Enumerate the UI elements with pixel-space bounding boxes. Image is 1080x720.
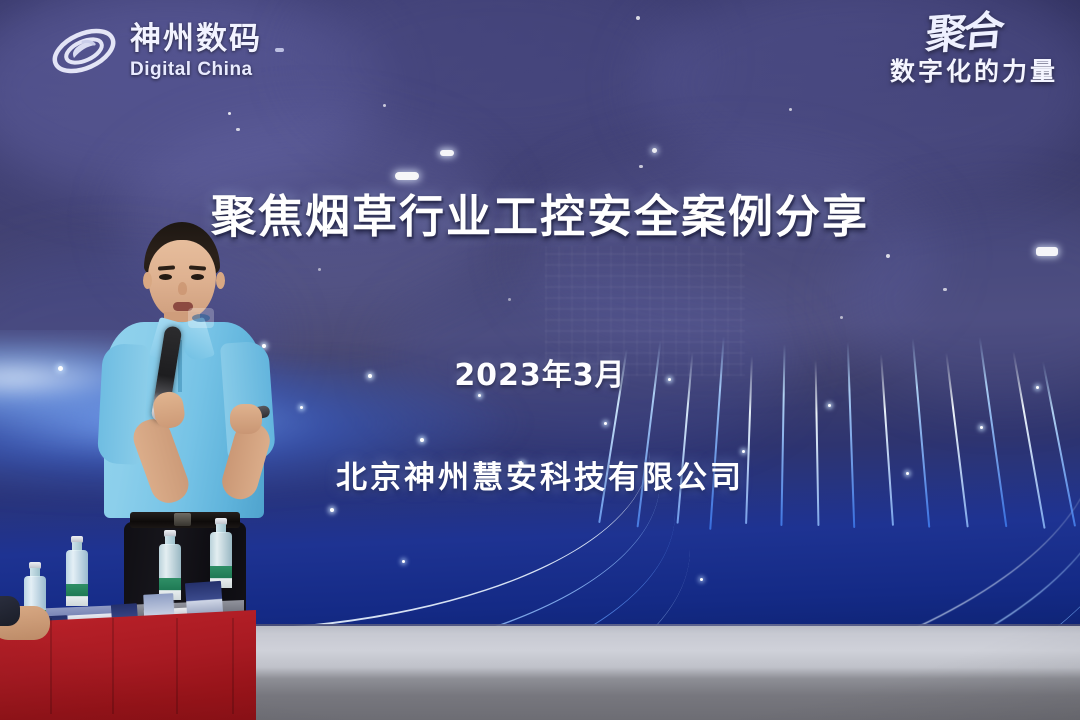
speaker-ear-right <box>216 272 225 289</box>
brand-name-cn: 神州数码 <box>130 24 262 55</box>
cloth-fold <box>112 618 114 714</box>
cloth-fold <box>232 618 234 714</box>
shirt-chest-logo-icon <box>188 308 214 328</box>
bottle-body <box>66 550 88 602</box>
slogan-block: 聚合 数字化的力量 <box>890 16 1058 88</box>
speaker-hand-right <box>230 404 262 434</box>
digital-china-spiral-logo-icon <box>48 18 120 84</box>
bottle-label <box>66 584 88 606</box>
name-card <box>185 581 223 615</box>
attendee-sleeve <box>0 596 20 626</box>
cloth-fold <box>176 618 178 714</box>
slogan-subtitle: 数字化的力量 <box>890 52 1058 88</box>
brand-name-en: Digital China <box>130 60 262 79</box>
brand-accent-dash <box>275 48 284 52</box>
speaker-nose <box>178 282 187 295</box>
slogan-calligraphy: 聚合 <box>888 12 1002 57</box>
speaker-eye-right <box>191 274 204 280</box>
speaker-ear-left <box>143 272 152 289</box>
speaker-eye-left <box>159 274 172 280</box>
bottle-body <box>210 532 232 584</box>
speaker-figure <box>96 222 272 642</box>
brand-logo-block: 神州数码 Digital China <box>48 18 262 84</box>
speaker-belt-buckle <box>174 513 191 526</box>
bottle-body <box>159 544 181 596</box>
seated-attendee <box>0 596 54 660</box>
screenshot-root: 神州数码 Digital China 聚合 数字化的力量 聚焦烟草行业工控安全案… <box>0 0 1080 720</box>
